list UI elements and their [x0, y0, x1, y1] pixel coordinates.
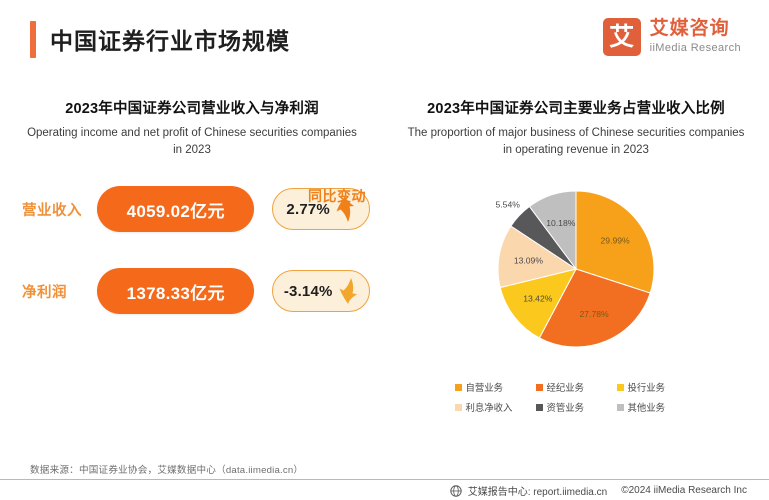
legend-label: 经纪业务 — [547, 380, 585, 394]
metric-value-pill: 4059.02亿元 — [97, 186, 254, 232]
legend-label: 自营业务 — [466, 380, 504, 394]
right-panel-subtitle: The proportion of major business of Chin… — [398, 125, 754, 161]
delta-value: -3.14% — [284, 283, 333, 300]
pie-slice-label: 5.54% — [496, 200, 521, 210]
metric-value-pill: 1378.33亿元 — [97, 268, 254, 314]
metric-row: 净利润 1378.33亿元 -3.14% — [14, 268, 370, 314]
legend-item[interactable]: 利息净收入 — [455, 400, 536, 414]
legend-swatch — [617, 384, 624, 391]
brand-text: 艾媒咨询 iiMedia Research — [650, 19, 741, 55]
legend-item[interactable]: 自营业务 — [455, 380, 536, 394]
globe-icon — [450, 485, 462, 497]
metrics-list: 同比变动 营业收入 4059.02亿元 2.77% 净利润 1378.33亿元 … — [14, 186, 370, 314]
pie-slice-label: 27.78% — [580, 309, 610, 319]
panels-container: 2023年中国证券公司营业收入与净利润 Operating income and… — [0, 100, 769, 445]
footer-bar: 艾媒报告中心: report.iimedia.cn ©2024 iiMedia … — [450, 483, 747, 498]
left-panel-title: 2023年中国证券公司营业收入与净利润 — [14, 100, 370, 120]
copyright-text: ©2024 iiMedia Research Inc — [621, 485, 747, 496]
footer-divider — [0, 479, 769, 480]
legend-swatch — [617, 404, 624, 411]
legend-item[interactable]: 投行业务 — [617, 380, 698, 394]
brand-logo: 艾 艾媒咨询 iiMedia Research — [603, 18, 741, 56]
title-accent-bar — [30, 21, 36, 58]
left-panel-subtitle: Operating income and net profit of Chine… — [14, 125, 370, 161]
legend-item[interactable]: 经纪业务 — [536, 380, 617, 394]
title-wrap: 中国证券行业市场规模 — [30, 21, 290, 58]
pie-chart-svg: 29.99%27.78%13.42%13.09%5.54%10.18% — [451, 174, 701, 364]
pie-legend: 自营业务经纪业务投行业务利息净收入资管业务其他业务 — [454, 380, 698, 420]
arrow-down-icon — [337, 277, 359, 305]
legend-item[interactable]: 其他业务 — [617, 400, 698, 414]
legend-label: 投行业务 — [628, 380, 666, 394]
brand-name-cn: 艾媒咨询 — [650, 19, 741, 40]
brand-mark-icon: 艾 — [603, 18, 641, 56]
page-title: 中国证券行业市场规模 — [50, 22, 290, 56]
page-header: 中国证券行业市场规模 艾 艾媒咨询 iiMedia Research — [0, 0, 769, 78]
right-panel: 2023年中国证券公司主要业务占营业收入比例 The proportion of… — [384, 100, 768, 445]
legend-swatch — [536, 404, 543, 411]
legend-label: 其他业务 — [628, 400, 666, 414]
delta-badge: -3.14% — [272, 270, 370, 312]
metric-label: 净利润 — [22, 281, 97, 302]
report-center-link[interactable]: 艾媒报告中心: report.iimedia.cn — [468, 483, 607, 498]
legend-item[interactable]: 资管业务 — [536, 400, 617, 414]
data-source-note: 数据来源：中国证券业协会，艾媒数据中心（data.iimedia.cn） — [30, 462, 303, 476]
pie-slice-label: 10.18% — [546, 218, 576, 228]
legend-label: 利息净收入 — [466, 400, 513, 414]
pie-chart: 29.99%27.78%13.42%13.09%5.54%10.18% — [398, 174, 754, 374]
legend-swatch — [536, 384, 543, 391]
legend-swatch — [455, 384, 462, 391]
metric-label: 营业收入 — [22, 199, 97, 220]
legend-label: 资管业务 — [547, 400, 585, 414]
legend-swatch — [455, 404, 462, 411]
pie-slice-label: 13.42% — [523, 294, 553, 304]
delta-column-header: 同比变动 — [282, 186, 392, 206]
pie-slice-label: 13.09% — [514, 256, 544, 266]
left-panel: 2023年中国证券公司营业收入与净利润 Operating income and… — [0, 100, 384, 445]
right-panel-title: 2023年中国证券公司主要业务占营业收入比例 — [398, 100, 754, 120]
brand-name-en: iiMedia Research — [650, 41, 741, 55]
pie-slice-label: 29.99% — [601, 236, 631, 246]
